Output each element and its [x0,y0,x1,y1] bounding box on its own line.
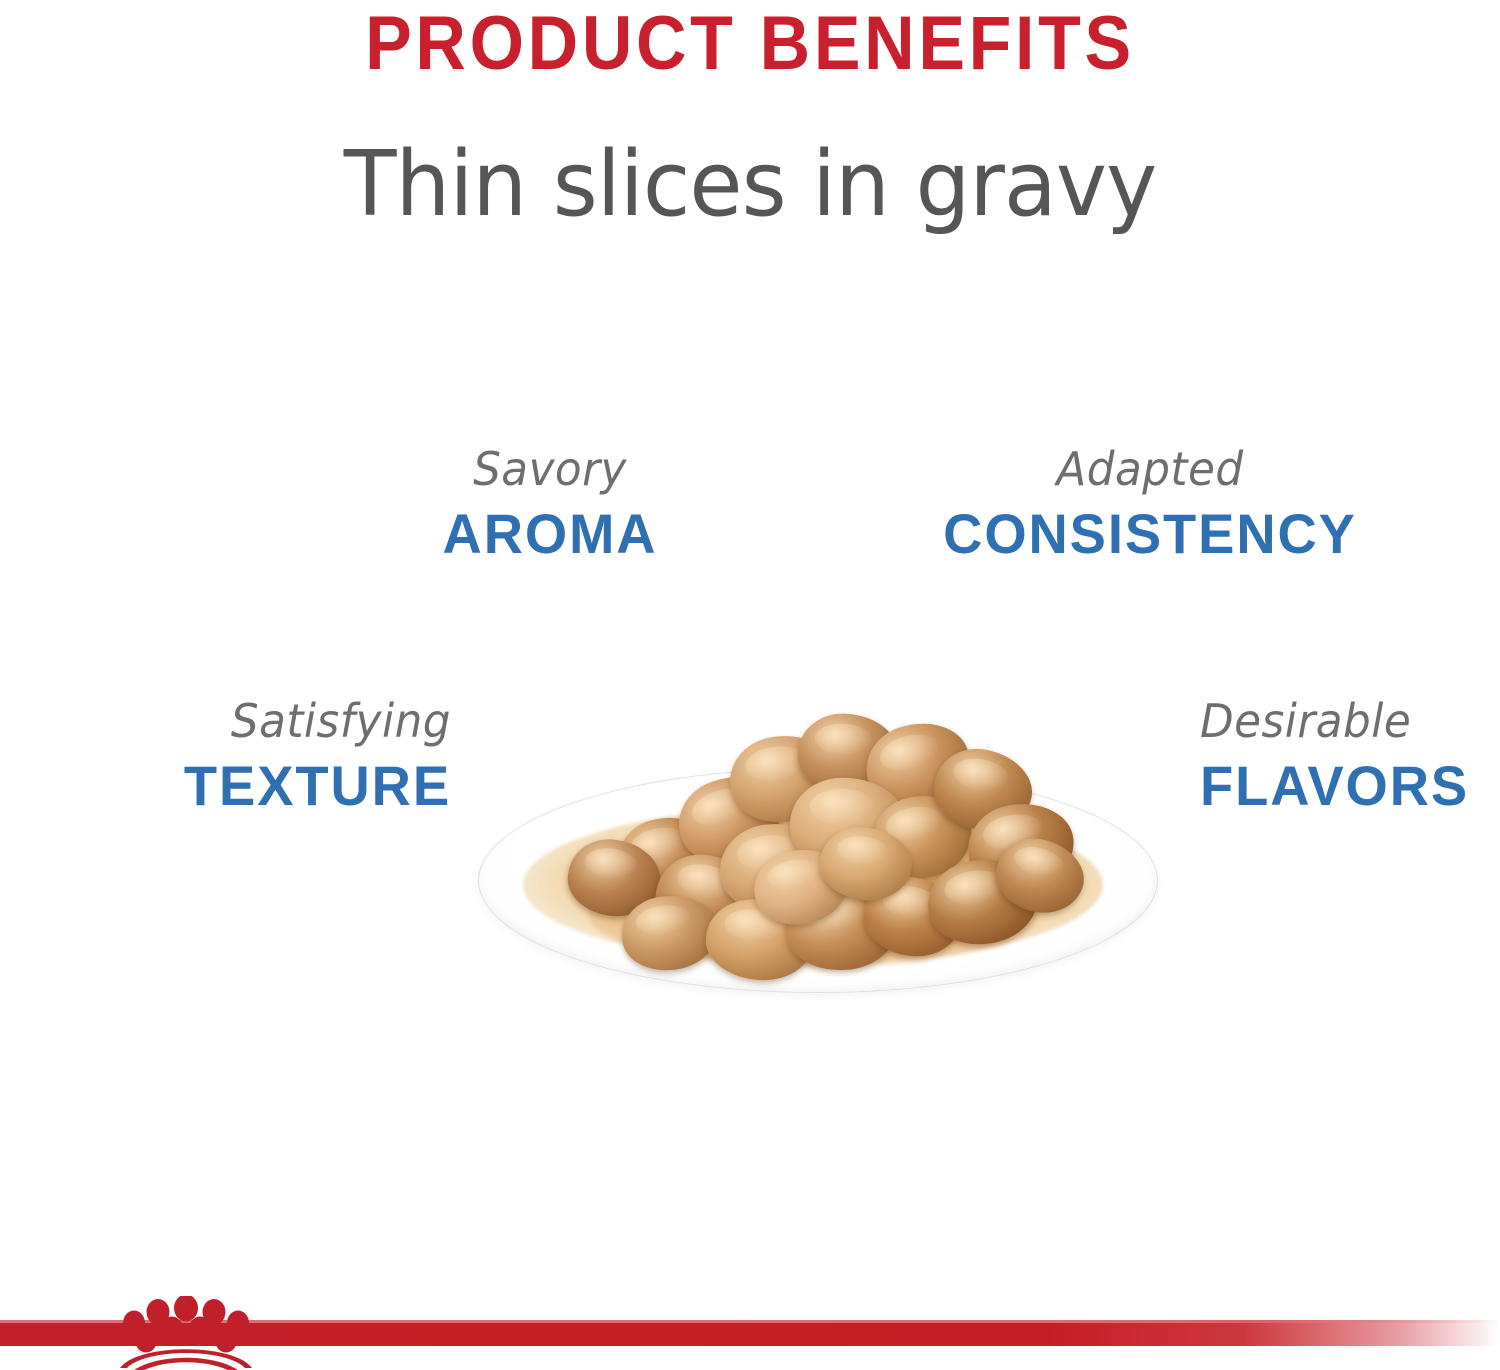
footer [0,1296,1500,1370]
product-photo-image [468,628,1168,1000]
royal-canin-crown-icon [106,1296,266,1370]
benefit-term: CONSISTENCY [888,506,1412,562]
benefit-qualifier: Adapted [894,446,1407,492]
benefit-qualifier: Satisfying [23,698,451,744]
benefit-aroma: Savory AROMA [310,446,790,562]
benefit-texture: Satisfying TEXTURE [0,698,455,814]
meat-slices-pile [468,628,1168,1000]
benefit-term: AROMA [317,506,783,562]
benefit-qualifier: Savory [322,446,778,492]
benefits-grid: Savory AROMA Adapted CONSISTENCY Satisfy… [0,0,1500,1250]
benefit-consistency: Adapted CONSISTENCY [880,446,1420,562]
benefit-term: TEXTURE [14,758,451,814]
benefit-qualifier: Desirable [1200,698,1500,744]
benefit-flavors: Desirable FLAVORS [1200,698,1500,814]
benefit-term: FLAVORS [1200,758,1500,814]
